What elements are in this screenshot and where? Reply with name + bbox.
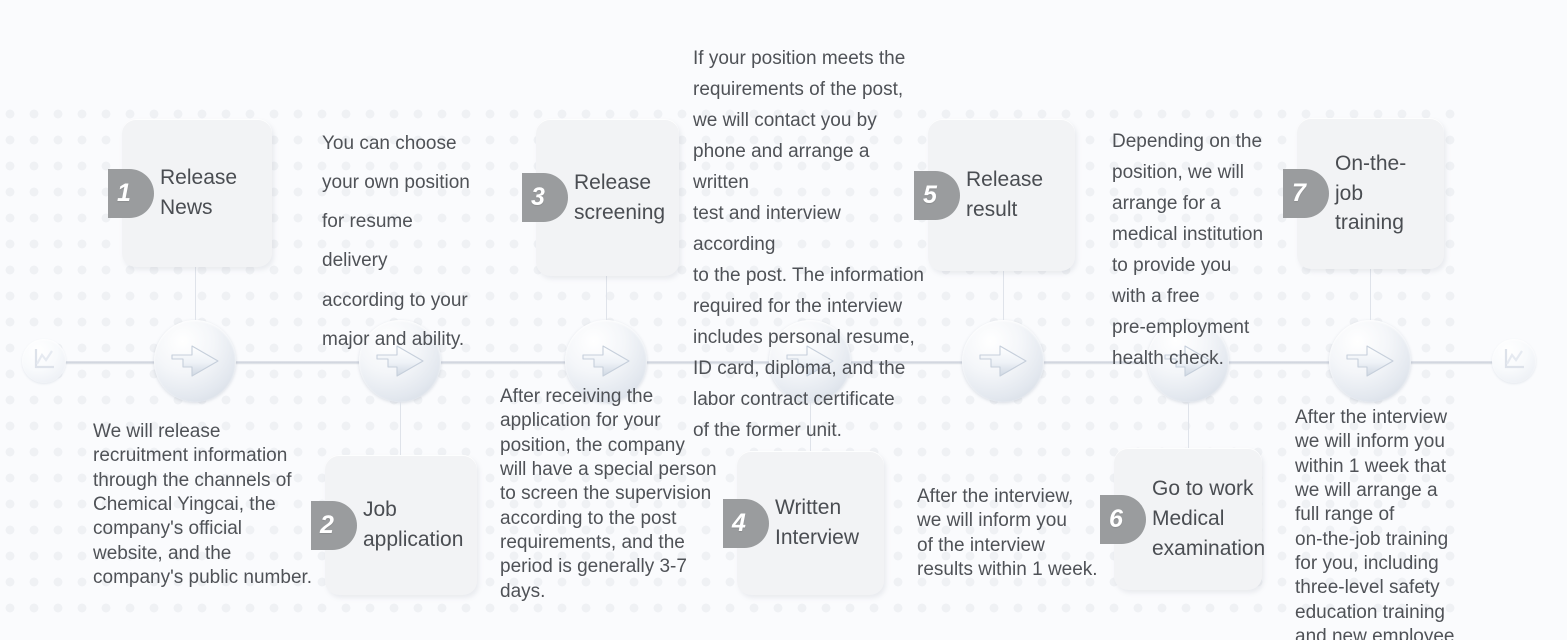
timeline-endcap-left — [22, 339, 66, 383]
step-card-6[interactable]: 6Go to work Medical examination — [1114, 448, 1262, 590]
step-connector-3 — [606, 276, 607, 320]
step-connector-2 — [400, 402, 401, 455]
step-arrow-right-icon — [1343, 338, 1397, 384]
timeline-node-7[interactable] — [1329, 320, 1411, 402]
step-number-badge-1: 1 — [108, 169, 154, 218]
step-card-1[interactable]: 1Release News — [122, 119, 272, 267]
step-label-3: Release screening — [568, 168, 665, 228]
step-label-6: Go to work Medical examination — [1146, 474, 1265, 563]
step-label-1: Release News — [154, 163, 237, 223]
step-description-7: After the interview we will inform you w… — [1295, 406, 1460, 640]
step-description-5: After the interview, we will inform you … — [917, 485, 1117, 582]
timeline-node-5[interactable] — [962, 320, 1044, 402]
step-card-inner-5: 5Release result — [914, 165, 1061, 225]
step-description-1: We will release recruitment information … — [93, 420, 333, 590]
timeline-endcap-right — [1492, 339, 1536, 383]
step-card-2[interactable]: 2Job application — [325, 455, 477, 595]
background-mask-right — [1460, 0, 1567, 640]
step-label-4: Written Interview — [769, 493, 859, 553]
step-card-3[interactable]: 3Release screening — [536, 119, 679, 276]
step-label-7: On-the-job training — [1329, 149, 1430, 238]
step-card-inner-1: 1Release News — [108, 163, 258, 223]
step-card-4[interactable]: 4Written Interview — [737, 451, 884, 595]
step-card-inner-7: 7On-the-job training — [1283, 149, 1430, 238]
step-connector-1 — [195, 267, 196, 320]
step-connector-6 — [1188, 402, 1189, 448]
step-number-badge-3: 3 — [522, 173, 568, 222]
step-description-6: Depending on the position, we will arran… — [1112, 127, 1287, 375]
step-card-inner-6: 6Go to work Medical examination — [1100, 474, 1248, 563]
chart-axis-icon — [1501, 346, 1527, 377]
step-card-inner-2: 2Job application — [311, 495, 463, 555]
step-connector-5 — [1003, 271, 1004, 320]
step-description-2: You can choose your own position for res… — [322, 124, 512, 359]
step-arrow-right-icon — [168, 338, 222, 384]
step-card-inner-4: 4Written Interview — [723, 493, 870, 553]
timeline-node-1[interactable] — [154, 320, 236, 402]
step-description-4: If your position meets the requirements … — [693, 44, 928, 447]
step-card-7[interactable]: 7On-the-job training — [1297, 118, 1444, 269]
step-connector-7 — [1370, 269, 1371, 320]
step-arrow-right-icon — [976, 338, 1030, 384]
step-arrow-right-icon — [579, 338, 633, 384]
step-label-2: Job application — [357, 495, 463, 555]
chart-axis-icon — [31, 346, 57, 377]
step-card-5[interactable]: 5Release result — [928, 119, 1075, 271]
step-card-inner-3: 3Release screening — [522, 168, 665, 228]
step-label-5: Release result — [960, 165, 1043, 225]
step-number-badge-7: 7 — [1283, 169, 1329, 218]
